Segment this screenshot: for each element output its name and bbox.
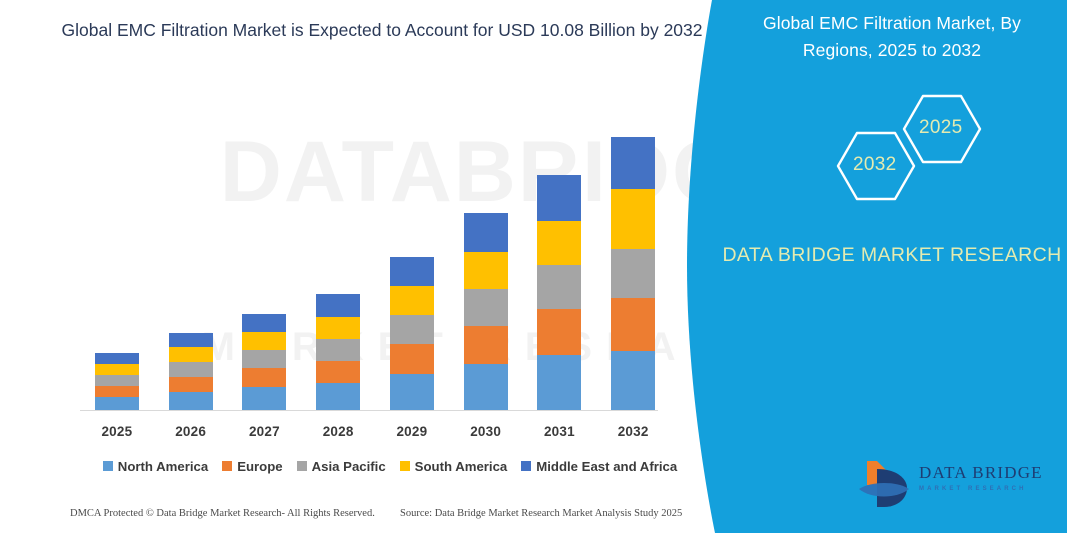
legend-swatch-icon <box>103 461 113 471</box>
bar-2025 <box>95 353 139 411</box>
right-panel: Global EMC Filtration Market, By Regions… <box>677 0 1067 533</box>
right-panel-title: Global EMC Filtration Market, By Regions… <box>737 10 1047 64</box>
segment-europe-2029 <box>390 344 434 374</box>
segment-south-america-2025 <box>95 364 139 375</box>
legend-item-europe[interactable]: Europe <box>222 459 282 474</box>
legend-swatch-icon <box>222 461 232 471</box>
logo-text-secondary: MARKET RESEARCH <box>919 486 1043 492</box>
x-axis-label-2031: 2031 <box>529 424 589 439</box>
bar-2031 <box>537 175 581 411</box>
segment-north-america-2025 <box>95 397 139 411</box>
segment-north-america-2030 <box>464 364 508 411</box>
segment-europe-2030 <box>464 326 508 364</box>
x-axis-label-2027: 2027 <box>234 424 294 439</box>
legend-swatch-icon <box>400 461 410 471</box>
hexagon-label-2032: 2032 <box>853 154 896 176</box>
segment-asia-pacific-2025 <box>95 375 139 386</box>
segment-middle-east-and-africa-2025 <box>95 353 139 364</box>
legend-item-middle-east-and-africa[interactable]: Middle East and Africa <box>521 459 677 474</box>
segment-north-america-2027 <box>242 387 286 411</box>
legend-item-asia-pacific[interactable]: Asia Pacific <box>297 459 386 474</box>
segment-middle-east-and-africa-2032 <box>611 137 655 189</box>
footer-copyright: DMCA Protected © Data Bridge Market Rese… <box>70 508 375 519</box>
bar-2026 <box>169 333 213 411</box>
brand-name: DATA BRIDGE MARKET RESEARCH <box>717 240 1067 270</box>
page-title: Global EMC Filtration Market is Expected… <box>52 16 712 44</box>
footer-source: Source: Data Bridge Market Research Mark… <box>400 508 682 519</box>
segment-south-america-2028 <box>316 317 360 339</box>
bar-2028 <box>316 294 360 411</box>
stacked-bar-chart <box>80 100 670 411</box>
x-axis-label-2030: 2030 <box>456 424 516 439</box>
segment-asia-pacific-2032 <box>611 249 655 298</box>
segment-asia-pacific-2029 <box>390 315 434 344</box>
hexagon-label-2025: 2025 <box>919 117 962 139</box>
segment-south-america-2027 <box>242 332 286 350</box>
segment-south-america-2032 <box>611 189 655 249</box>
legend-item-north-america[interactable]: North America <box>103 459 208 474</box>
logo-text-primary: DATA BRIDGE <box>919 463 1043 483</box>
footer: DMCA Protected © Data Bridge Market Rese… <box>0 508 712 528</box>
bar-2029 <box>390 257 434 411</box>
x-axis-label-2029: 2029 <box>382 424 442 439</box>
segment-middle-east-and-africa-2027 <box>242 314 286 332</box>
segment-middle-east-and-africa-2028 <box>316 294 360 317</box>
bar-2027 <box>242 314 286 411</box>
segment-middle-east-and-africa-2031 <box>537 175 581 221</box>
data-bridge-logo: DATA BRIDGE MARKET RESEARCH <box>857 455 1062 517</box>
segment-south-america-2029 <box>390 286 434 315</box>
segment-asia-pacific-2027 <box>242 350 286 368</box>
segment-south-america-2026 <box>169 347 213 362</box>
segment-asia-pacific-2030 <box>464 289 508 326</box>
infographic-root: Global EMC Filtration Market is Expected… <box>0 0 1067 533</box>
x-axis-label-2025: 2025 <box>87 424 147 439</box>
segment-north-america-2026 <box>169 392 213 411</box>
legend-label: South America <box>415 459 508 474</box>
legend-label: North America <box>118 459 208 474</box>
legend-item-south-america[interactable]: South America <box>400 459 508 474</box>
x-axis-line <box>80 410 658 411</box>
chart-legend: North AmericaEuropeAsia PacificSouth Ame… <box>100 456 680 476</box>
segment-asia-pacific-2028 <box>316 339 360 361</box>
segment-north-america-2028 <box>316 383 360 411</box>
segment-europe-2032 <box>611 298 655 351</box>
data-bridge-b-mark-icon <box>857 455 915 511</box>
legend-label: Europe <box>237 459 282 474</box>
x-axis-label-2026: 2026 <box>161 424 221 439</box>
segment-south-america-2030 <box>464 252 508 289</box>
segment-europe-2027 <box>242 368 286 387</box>
legend-label: Asia Pacific <box>312 459 386 474</box>
segment-europe-2031 <box>537 309 581 355</box>
hexagon-badges: 2025 2032 <box>737 88 1047 208</box>
segment-europe-2026 <box>169 377 213 392</box>
segment-middle-east-and-africa-2026 <box>169 333 213 347</box>
segment-middle-east-and-africa-2030 <box>464 213 508 252</box>
bar-2032 <box>611 137 655 411</box>
legend-label: Middle East and Africa <box>536 459 677 474</box>
legend-swatch-icon <box>521 461 531 471</box>
segment-europe-2028 <box>316 361 360 383</box>
segment-asia-pacific-2026 <box>169 362 213 377</box>
segment-asia-pacific-2031 <box>537 265 581 309</box>
segment-north-america-2029 <box>390 374 434 411</box>
legend-swatch-icon <box>297 461 307 471</box>
segment-north-america-2031 <box>537 355 581 411</box>
bar-2030 <box>464 213 508 411</box>
segment-europe-2025 <box>95 386 139 397</box>
x-axis-label-2032: 2032 <box>603 424 663 439</box>
segment-middle-east-and-africa-2029 <box>390 257 434 286</box>
hexagon-outlines <box>737 88 1047 208</box>
segment-north-america-2032 <box>611 351 655 411</box>
x-axis-labels: 20252026202720282029203020312032 <box>80 424 670 444</box>
segment-south-america-2031 <box>537 221 581 265</box>
x-axis-label-2028: 2028 <box>308 424 368 439</box>
